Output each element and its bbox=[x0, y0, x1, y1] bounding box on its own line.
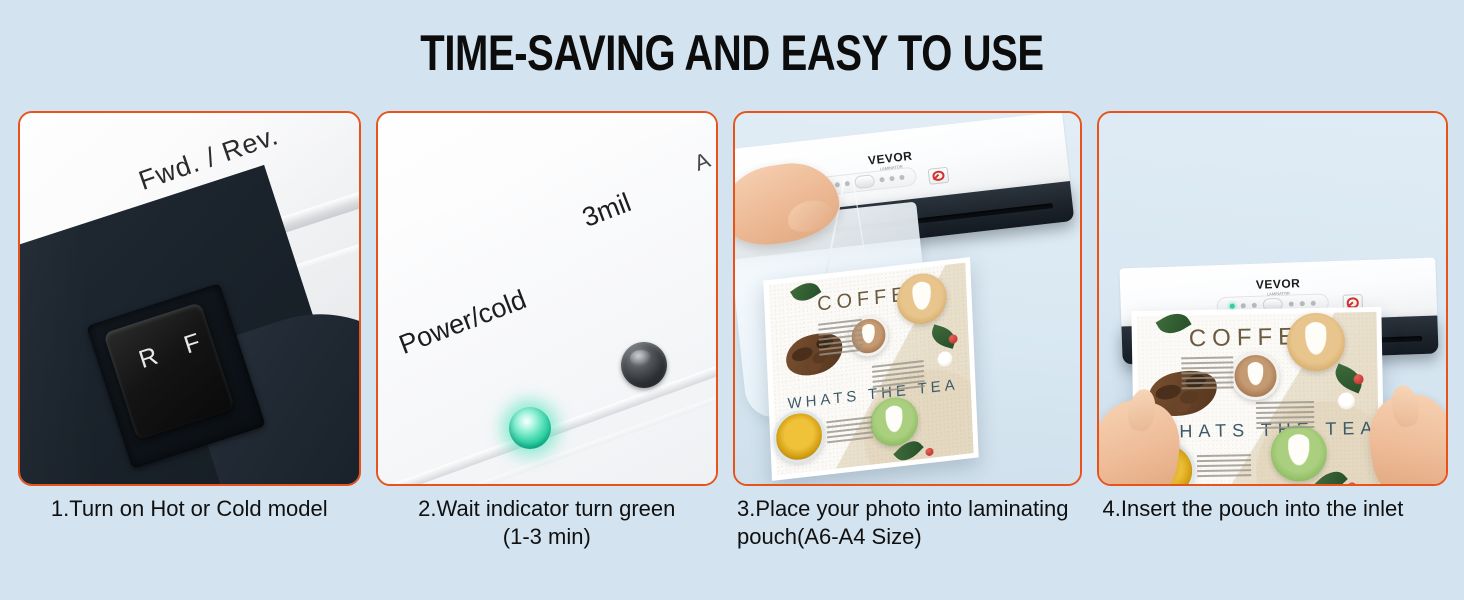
menu-column-middle bbox=[872, 360, 925, 396]
control-dot-4 bbox=[1299, 301, 1304, 306]
caption-step-2-line-2: (1-3 min) bbox=[376, 523, 719, 551]
blossom-right bbox=[1337, 392, 1354, 409]
control-dot-1 bbox=[1240, 303, 1245, 308]
page-title: TIME-SAVING AND EASY TO USE bbox=[146, 26, 1317, 80]
caption-step-2-line-1: 2.Wait indicator turn green bbox=[376, 495, 719, 523]
caption-step-4: 4.Insert the pouch into the inlet bbox=[1097, 495, 1448, 551]
green-indicator-led bbox=[509, 407, 551, 449]
power-led-icon bbox=[1229, 304, 1234, 309]
place-photo-photo: VEVOR LAMINATOR bbox=[735, 113, 1079, 484]
menu-column-tea bbox=[1196, 454, 1250, 480]
no-entry-icon bbox=[932, 170, 944, 181]
poster-background: COFFEE WHATS THE TEA bbox=[769, 263, 974, 476]
menu-column-left bbox=[818, 319, 863, 359]
panel-insert-pouch: VEVOR LAMINATOR bbox=[1097, 111, 1448, 486]
caption-step-3-line-2: pouch(A6-A4 Size) bbox=[737, 523, 1082, 551]
thickness-button[interactable] bbox=[621, 342, 667, 388]
caption-step-2: 2.Wait indicator turn green (1-3 min) bbox=[376, 495, 719, 551]
insert-pouch-photo: VEVOR LAMINATOR bbox=[1099, 113, 1446, 484]
switch-mark-reverse: R bbox=[135, 342, 162, 375]
latte-art-coffee bbox=[1231, 352, 1280, 401]
step-captions: 1.Turn on Hot or Cold model 2.Wait indic… bbox=[18, 495, 1448, 551]
caption-step-3: 3.Place your photo into laminating pouch… bbox=[733, 495, 1082, 551]
latte-art-matcha bbox=[1270, 425, 1327, 482]
caption-step-1-line-1: 1.Turn on Hot or Cold model bbox=[18, 495, 361, 523]
control-dot-3 bbox=[1288, 301, 1293, 306]
control-dot-1 bbox=[834, 182, 840, 188]
fwd-rev-photo: Fwd. / Rev. R F bbox=[20, 113, 359, 484]
latte-art-cream bbox=[1286, 312, 1345, 371]
caption-step-1: 1.Turn on Hot or Cold model bbox=[18, 495, 361, 551]
panel-indicator: A Power/cold 3mil bbox=[376, 111, 719, 486]
berry-right bbox=[1353, 374, 1363, 384]
berry-bottom bbox=[1347, 482, 1356, 486]
menu-column-tea bbox=[826, 416, 873, 446]
caption-step-4-line-1: 4.Insert the pouch into the inlet bbox=[1103, 495, 1448, 523]
menu-column-middle bbox=[1256, 401, 1315, 432]
panel-place-photo: VEVOR LAMINATOR bbox=[733, 111, 1081, 486]
control-dot-5 bbox=[899, 175, 905, 181]
power-button[interactable] bbox=[854, 174, 875, 189]
menu-column-left bbox=[1181, 356, 1234, 392]
caption-step-3-line-1: 3.Place your photo into laminating bbox=[737, 495, 1082, 523]
brand-name: VEVOR bbox=[1255, 276, 1300, 292]
indicator-photo: A Power/cold 3mil bbox=[378, 113, 717, 484]
warning-label bbox=[928, 167, 950, 185]
control-dot-2 bbox=[1251, 303, 1256, 308]
step-panels: Fwd. / Rev. R F A Power/cold 3mil bbox=[18, 111, 1448, 486]
control-dot-5 bbox=[1310, 301, 1315, 306]
control-dot-4 bbox=[889, 176, 895, 182]
control-dot-3 bbox=[879, 177, 885, 183]
panel-fwd-rev: Fwd. / Rev. R F bbox=[18, 111, 361, 486]
coffee-menu-poster: COFFEE WHATS THE TEA bbox=[763, 257, 978, 481]
switch-mark-forward: F bbox=[181, 328, 205, 360]
